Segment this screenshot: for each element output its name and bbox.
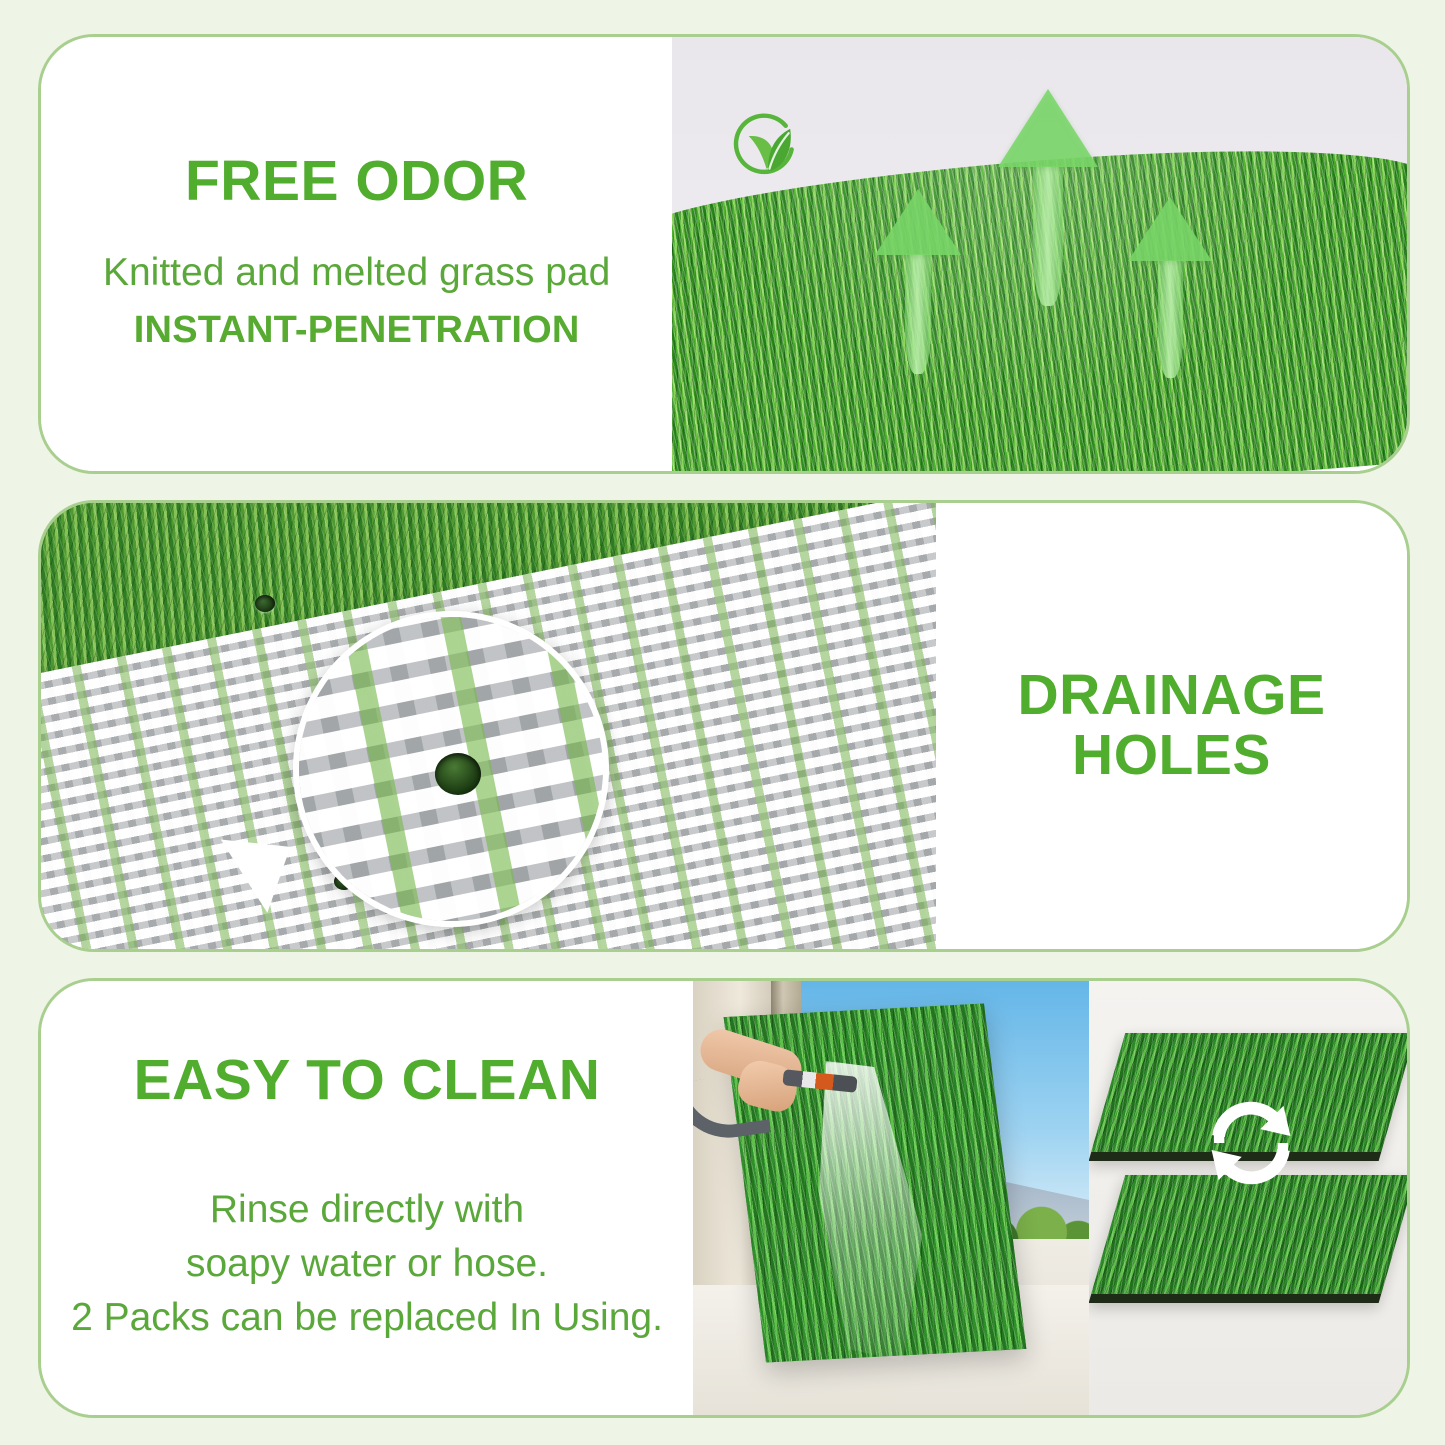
free-odor-subline-2: INSTANT-PENETRATION <box>134 304 580 356</box>
free-odor-subline-1: Knitted and melted grass pad <box>103 246 610 300</box>
easy-to-clean-headline: EASY TO CLEAN <box>134 1051 601 1111</box>
free-odor-headline: FREE ODOR <box>185 152 528 212</box>
up-arrow-icon-center <box>998 89 1098 306</box>
backing-mesh-photo <box>41 503 936 949</box>
up-arrow-icon-left <box>875 189 961 374</box>
up-arrow-icon-right <box>1128 197 1212 378</box>
eco-leaf-icon <box>728 111 802 185</box>
drainage-headline-line-2: HOLES <box>1072 726 1271 786</box>
stacked-pads-photo <box>1089 981 1407 1415</box>
easy-to-clean-subline-1: Rinse directly with <box>210 1183 524 1237</box>
drainage-hole <box>255 595 275 612</box>
feature-card-free-odor: FREE ODOR Knitted and melted grass pad I… <box>38 34 1410 474</box>
easy-to-clean-text-pane: EASY TO CLEAN Rinse directly with soapy … <box>41 981 693 1415</box>
feature-card-easy-to-clean: EASY TO CLEAN Rinse directly with soapy … <box>38 978 1410 1418</box>
easy-to-clean-subline-2: soapy water or hose. <box>186 1237 548 1291</box>
free-odor-text-pane: FREE ODOR Knitted and melted grass pad I… <box>41 37 672 471</box>
infographic-page: FREE ODOR Knitted and melted grass pad I… <box>0 0 1445 1445</box>
magnifier-callout-icon <box>293 611 609 927</box>
drainage-holes-text-pane: DRAINAGE HOLES <box>936 503 1407 949</box>
magnified-drainage-hole <box>435 753 481 795</box>
drainage-headline-line-1: DRAINAGE <box>1017 666 1325 726</box>
grass-arrows-photo <box>672 37 1407 471</box>
feature-card-drainage-holes: DRAINAGE HOLES <box>38 500 1410 952</box>
cleaning-photos <box>693 981 1407 1415</box>
easy-to-clean-subline-3: 2 Packs can be replaced In Using. <box>71 1291 663 1345</box>
magnifier-pointer <box>214 840 291 915</box>
recycle-swap-icon <box>1193 1085 1309 1201</box>
hose-rinsing-photo <box>693 981 1089 1415</box>
